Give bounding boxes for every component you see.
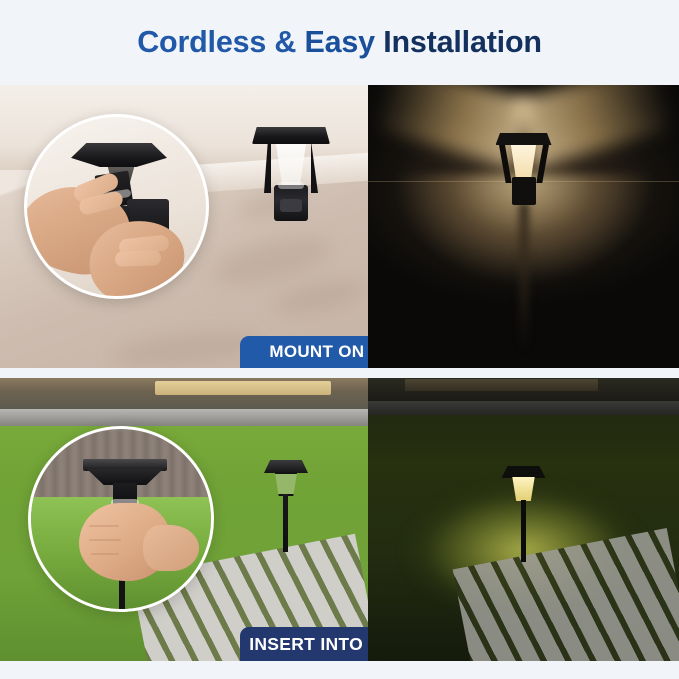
lamp-ground-stake-pole [283,494,288,552]
scene-lawn-night [368,378,679,661]
photo-row-bottom: INSERT INTO THE GROUND [0,378,679,661]
scene-lawn-daylight [0,378,368,661]
caption-banner-mount-on-the-wall: MOUNT ON THE WALL [240,336,368,368]
wall-mounted-lamp [252,127,330,225]
caption-banner-insert-into-the-ground: INSERT INTO THE GROUND [240,627,368,661]
lamp-solar-panel-top [264,460,308,473]
photo-row-top: MOUNT ON THE WALL [0,85,679,368]
road-strip [0,409,368,426]
product-feature-page: Cordless & Easy Installation [0,0,679,679]
park-bench [405,379,598,390]
lamp-shadow-streak [519,203,529,353]
panel-wall-mount-daylight: MOUNT ON THE WALL [0,85,368,368]
park-bench [155,381,332,395]
lamp-arm-right [536,141,549,183]
scene-wall-night [368,85,679,368]
knuckle-line [89,539,121,541]
title-word-installation: Installation [383,25,542,59]
lamp-ground-stake-pole [521,500,526,562]
scene-wall-daylight [0,85,368,368]
panel-path-light-night [368,378,679,661]
motion-sensor [280,199,302,212]
lamp-lantern-cage [272,472,300,496]
knuckle-line [89,525,119,527]
lamp-solar-canopy [252,127,330,144]
inset-circle-wall-install [24,114,209,299]
wall-shadow [270,274,368,321]
finger [115,250,161,267]
panel-wall-lamp-night [368,85,679,368]
lamp-arm-left [264,141,271,193]
lamp-head-closeup [83,459,167,509]
brand-logo-badge [278,182,304,189]
lamp-solar-canopy [71,143,167,167]
photo-grid: MOUNT ON THE WALL [0,85,679,661]
installed-path-light [264,460,308,552]
lamp-arm-left [498,141,511,183]
road-strip [368,401,679,415]
lamp-lantern-glowing [510,477,538,501]
lamp-body [512,177,536,205]
path-light-illuminated [502,466,546,562]
title-word-easy: Easy [305,25,375,59]
knuckle-line [91,553,119,555]
lamp-glass-glowing [507,143,541,179]
lamp-solar-canopy [496,133,552,145]
wall-lamp-illuminated [496,133,552,209]
title-word-cordless: Cordless [137,25,266,59]
page-title: Cordless & Easy Installation [0,0,679,85]
inset-circle-ground-install [28,426,214,612]
panel-ground-stake-daylight: INSERT INTO THE GROUND [0,378,368,661]
wall-shadow [109,326,261,368]
page-title-text: Cordless & Easy Installation [137,25,542,60]
lamp-solar-panel-top [502,466,546,478]
lamp-arm-right [311,141,318,193]
hand-fist-gripping-stake [79,503,171,581]
title-ampersand: & [274,25,296,59]
